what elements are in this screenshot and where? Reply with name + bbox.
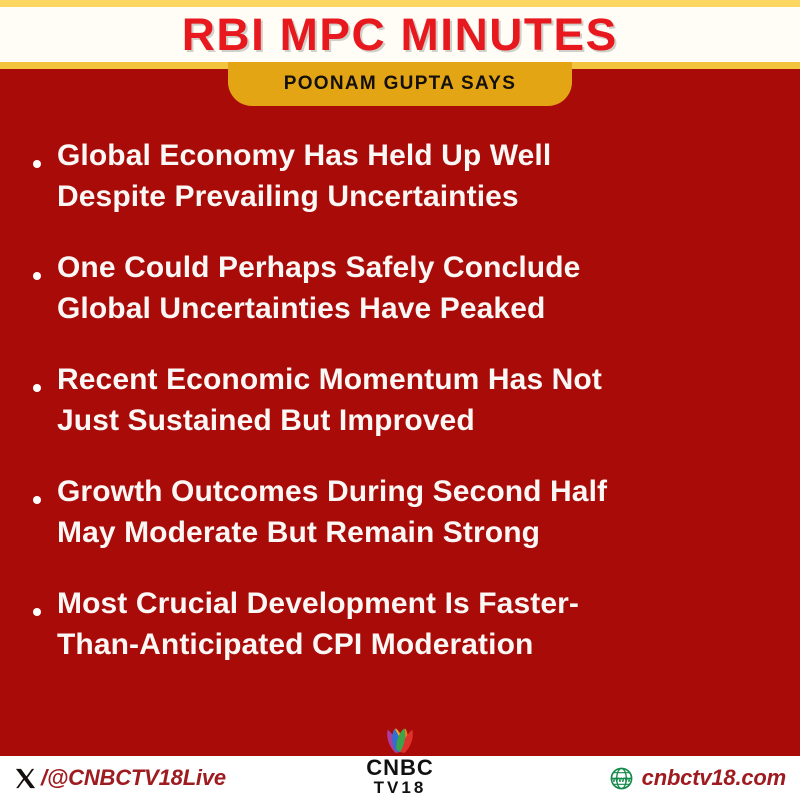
bullet-line: Growth Outcomes During Second Half xyxy=(57,472,800,513)
bullet-line: One Could Perhaps Safely Conclude xyxy=(57,248,800,289)
bullet-line: Despite Prevailing Uncertainties xyxy=(57,177,800,218)
bullet-dot-icon xyxy=(33,272,41,280)
bullet-line: Global Uncertainties Have Peaked xyxy=(57,289,800,330)
title-plate: RBI MPC MINUTES xyxy=(0,7,800,62)
nbc-peacock-icon xyxy=(370,718,430,754)
bullet-dot-icon xyxy=(33,496,41,504)
bullet-text: Growth Outcomes During Second Half May M… xyxy=(57,472,800,554)
x-twitter-icon[interactable] xyxy=(14,767,37,790)
bullet-line: May Moderate But Remain Strong xyxy=(57,513,800,554)
bullet-line: Than-Anticipated CPI Moderation xyxy=(57,625,800,666)
twitter-handle-group[interactable]: /@CNBCTV18Live xyxy=(14,765,226,791)
twitter-handle-text[interactable]: /@CNBCTV18Live xyxy=(41,765,226,791)
bullet-text: Global Economy Has Held Up Well Despite … xyxy=(57,136,800,218)
bullet-text: Recent Economic Momentum Has Not Just Su… xyxy=(57,360,800,442)
cnbc-tv18-logo: CNBC TV18 xyxy=(348,718,452,798)
page-title: RBI MPC MINUTES xyxy=(182,12,618,57)
rbi-mpc-minutes-card: RBI MPC MINUTES POONAM GUPTA SAYS Global… xyxy=(0,0,800,800)
speaker-badge: POONAM GUPTA SAYS xyxy=(228,62,572,106)
list-item: Recent Economic Momentum Has Not Just Su… xyxy=(0,360,800,472)
website-group[interactable]: www cnbctv18.com xyxy=(609,765,786,791)
logo-name-bottom: TV18 xyxy=(348,779,452,798)
bullet-line: Recent Economic Momentum Has Not xyxy=(57,360,800,401)
bullet-dot-icon xyxy=(33,384,41,392)
bullet-line: Just Sustained But Improved xyxy=(57,401,800,442)
speaker-badge-label: POONAM GUPTA SAYS xyxy=(284,73,517,95)
bullet-text: Most Crucial Development Is Faster- Than… xyxy=(57,584,800,666)
globe-www-label: www xyxy=(611,774,631,783)
globe-www-icon[interactable]: www xyxy=(609,766,634,791)
bullet-dot-icon xyxy=(33,160,41,168)
bullet-line: Most Crucial Development Is Faster- xyxy=(57,584,800,625)
website-text[interactable]: cnbctv18.com xyxy=(642,765,786,791)
bullet-line: Global Economy Has Held Up Well xyxy=(57,136,800,177)
list-item: Growth Outcomes During Second Half May M… xyxy=(0,472,800,584)
logo-name-top: CNBC xyxy=(348,756,452,779)
bullet-dot-icon xyxy=(33,608,41,616)
top-accent-rule xyxy=(0,0,800,7)
bullet-text: One Could Perhaps Safely Conclude Global… xyxy=(57,248,800,330)
list-item: Global Economy Has Held Up Well Despite … xyxy=(0,136,800,248)
list-item: One Could Perhaps Safely Conclude Global… xyxy=(0,248,800,360)
bullet-list: Global Economy Has Held Up Well Despite … xyxy=(0,136,800,716)
list-item: Most Crucial Development Is Faster- Than… xyxy=(0,584,800,696)
